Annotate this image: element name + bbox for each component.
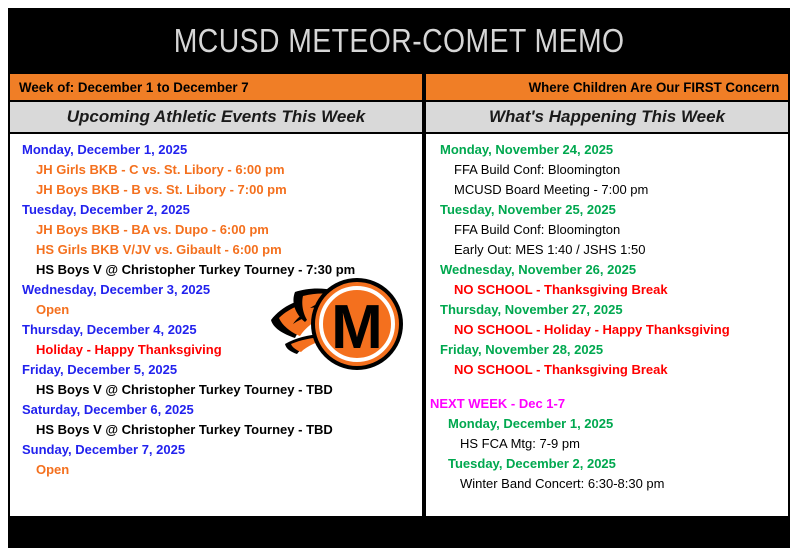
week-of-cell: Week of: December 1 to December 7 bbox=[10, 74, 422, 100]
athletic-event-entry: HS Boys V @ Christopher Turkey Tourney -… bbox=[10, 380, 422, 400]
happening-entry: HS FCA Mtg: 7-9 pm bbox=[426, 434, 788, 454]
athletic-event-entry: Holiday - Happy Thanksgiving bbox=[10, 340, 422, 360]
footer-bar bbox=[10, 516, 788, 546]
athletic-event-date-heading: Tuesday, December 2, 2025 bbox=[10, 200, 422, 220]
athletic-event-entry: JH Girls BKB - C vs. St. Libory - 6:00 p… bbox=[10, 160, 422, 180]
athletic-events-column: Monday, December 1, 2025JH Girls BKB - C… bbox=[10, 134, 422, 516]
athletic-events-list: Monday, December 1, 2025JH Girls BKB - C… bbox=[10, 134, 422, 480]
athletic-event-entry: HS Boys V @ Christopher Turkey Tourney -… bbox=[10, 260, 422, 280]
athletic-event-entry: Open bbox=[10, 300, 422, 320]
happening-date-heading: Monday, December 1, 2025 bbox=[426, 414, 788, 434]
tagline-cell: Where Children Are Our FIRST Concern bbox=[426, 74, 788, 100]
left-section-title: Upcoming Athletic Events This Week bbox=[67, 107, 366, 127]
right-section-title-cell: What's Happening This Week bbox=[426, 102, 788, 132]
athletic-event-date-heading: Thursday, December 4, 2025 bbox=[10, 320, 422, 340]
happenings-column: Monday, November 24, 2025FFA Build Conf:… bbox=[426, 134, 788, 516]
athletic-event-entry: HS Girls BKB V/JV vs. Gibault - 6:00 pm bbox=[10, 240, 422, 260]
athletic-event-entry: HS Boys V @ Christopher Turkey Tourney -… bbox=[10, 420, 422, 440]
happening-date-heading: Monday, November 24, 2025 bbox=[426, 140, 788, 160]
happening-entry: FFA Build Conf: Bloomington bbox=[426, 160, 788, 180]
memo-document: MCUSD METEOR-COMET MEMO Week of: Decembe… bbox=[8, 8, 790, 548]
happenings-list: Monday, November 24, 2025FFA Build Conf:… bbox=[426, 134, 788, 494]
week-info-bar: Week of: December 1 to December 7 Where … bbox=[10, 72, 788, 102]
happening-section-heading: NEXT WEEK - Dec 1-7 bbox=[426, 394, 788, 414]
title-band: MCUSD METEOR-COMET MEMO bbox=[10, 10, 788, 72]
happening-entry: Early Out: MES 1:40 / JSHS 1:50 bbox=[426, 240, 788, 260]
athletic-event-entry: JH Boys BKB - B vs. St. Libory - 7:00 pm bbox=[10, 180, 422, 200]
happening-spacer bbox=[426, 380, 788, 394]
happening-entry: MCUSD Board Meeting - 7:00 pm bbox=[426, 180, 788, 200]
week-of-label: Week of: December 1 to December 7 bbox=[19, 79, 249, 95]
happening-date-heading: Wednesday, November 26, 2025 bbox=[426, 260, 788, 280]
athletic-event-date-heading: Friday, December 5, 2025 bbox=[10, 360, 422, 380]
happening-entry: NO SCHOOL - Thanksgiving Break bbox=[426, 360, 788, 380]
athletic-event-entry: Open bbox=[10, 460, 422, 480]
athletic-event-date-heading: Saturday, December 6, 2025 bbox=[10, 400, 422, 420]
happening-entry: NO SCHOOL - Thanksgiving Break bbox=[426, 280, 788, 300]
section-title-bar: Upcoming Athletic Events This Week What'… bbox=[10, 102, 788, 134]
happening-date-heading: Tuesday, November 25, 2025 bbox=[426, 200, 788, 220]
happening-date-heading: Friday, November 28, 2025 bbox=[426, 340, 788, 360]
athletic-event-date-heading: Monday, December 1, 2025 bbox=[10, 140, 422, 160]
happening-entry: NO SCHOOL - Holiday - Happy Thanksgiving bbox=[426, 320, 788, 340]
right-section-title: What's Happening This Week bbox=[489, 107, 725, 127]
tagline-label: Where Children Are Our FIRST Concern bbox=[529, 79, 780, 95]
left-section-title-cell: Upcoming Athletic Events This Week bbox=[10, 102, 422, 132]
happening-date-heading: Tuesday, December 2, 2025 bbox=[426, 454, 788, 474]
happening-entry: Winter Band Concert: 6:30-8:30 pm bbox=[426, 474, 788, 494]
athletic-event-date-heading: Wednesday, December 3, 2025 bbox=[10, 280, 422, 300]
happening-date-heading: Thursday, November 27, 2025 bbox=[426, 300, 788, 320]
happening-entry: FFA Build Conf: Bloomington bbox=[426, 220, 788, 240]
athletic-event-entry: JH Boys BKB - BA vs. Dupo - 6:00 pm bbox=[10, 220, 422, 240]
athletic-event-date-heading: Sunday, December 7, 2025 bbox=[10, 440, 422, 460]
content-columns: Monday, December 1, 2025JH Girls BKB - C… bbox=[10, 134, 788, 516]
page-title: MCUSD METEOR-COMET MEMO bbox=[174, 22, 625, 60]
